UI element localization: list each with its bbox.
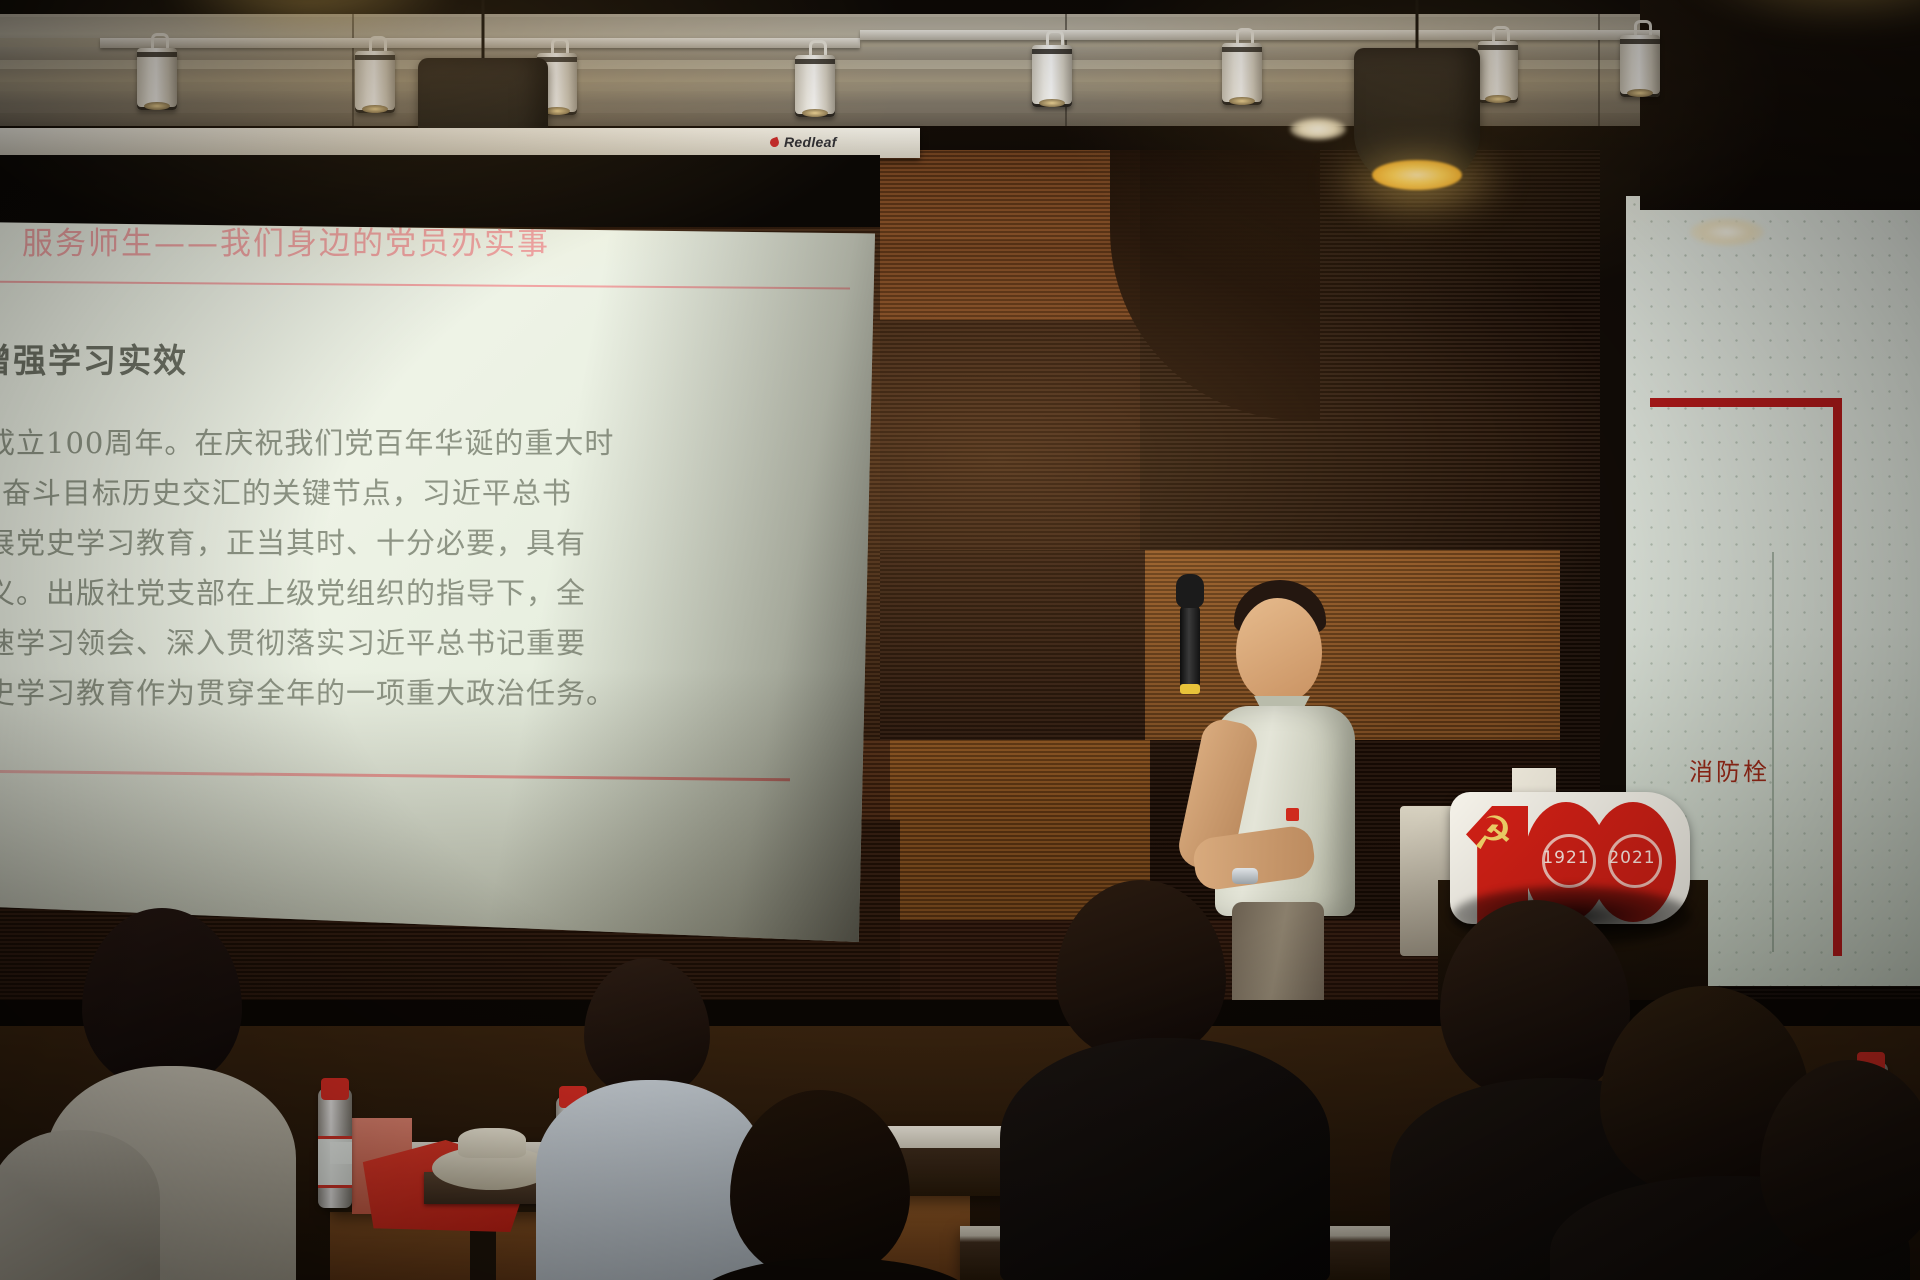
slide-footer-rule: [0, 770, 790, 782]
emblem-year-right: 2021: [1608, 848, 1656, 868]
recessed-downlight: [1690, 218, 1764, 246]
projection-screen: 谋，服务师生——我们身边的党员办实事 增强学习实效 党成立100周年。在庆祝我们…: [0, 222, 875, 942]
projector-brand-label: Redleaf: [784, 134, 837, 150]
slide-body-line: 年”奋斗目标历史交汇的关键节点，习近平总书: [0, 468, 572, 518]
slide-body-line: 党成立100周年。在庆祝我们党百年华诞的重大时: [0, 418, 614, 468]
red-leaf-icon: [769, 136, 781, 148]
presentation-room-photo: 消防栓: [0, 0, 1920, 1280]
audience-body: [1000, 1038, 1330, 1280]
hammer-and-sickle-icon: ☭: [1472, 810, 1513, 856]
party-member-pin: [1286, 808, 1299, 821]
recessed-downlight: [1290, 118, 1346, 140]
water-bottle-cap: [321, 1078, 349, 1100]
audience-body: [0, 1130, 160, 1280]
track-spotlight: [355, 36, 395, 114]
ceiling-right-dark: [1640, 0, 1920, 210]
microphone-body: [1180, 604, 1200, 690]
cabinet-border-top: [1650, 398, 1842, 407]
slide-body-line: 意义。出版社党支部在上级党组织的指导下，全: [0, 568, 586, 618]
slide-subheading: 增强学习实效: [0, 334, 188, 382]
track-spotlight: [1478, 26, 1518, 104]
speaker-watch: [1232, 868, 1258, 884]
water-bottle-label: [318, 1136, 352, 1188]
emblem-year-left: 1921: [1542, 848, 1590, 868]
pendant-lamp: [200, 0, 410, 20]
microphone-tip: [1180, 684, 1200, 694]
slide-body-line: 迅速学习领会、深入贯彻落实习近平总书记重要: [0, 618, 586, 668]
track-spotlight: [1032, 30, 1072, 108]
water-bottle: [318, 1088, 352, 1208]
pendant-lamp: [1710, 0, 1920, 10]
slide-body-line: 党史学习教育作为贯穿全年的一项重大政治任务。: [0, 668, 616, 718]
track-spotlight: [1222, 28, 1262, 106]
pendant-lamp: [1354, 0, 1480, 260]
screen-top-mask: [0, 155, 880, 227]
cabinet-inner-frame: [1772, 552, 1920, 952]
slide-header-rule: [0, 281, 850, 290]
microphone-head: [1176, 574, 1204, 608]
speaker-head: [1236, 598, 1322, 702]
track-spotlight: [137, 33, 177, 111]
track-spotlight: [1620, 20, 1660, 98]
fire-hydrant-label: 消防栓: [1689, 752, 1770, 787]
projector-brand: Redleaf: [770, 134, 837, 150]
sun-hat-crown: [458, 1128, 526, 1158]
slide-body-line: 开展党史学习教育，正当其时、十分必要，具有: [0, 518, 586, 568]
track-spotlight: [795, 40, 835, 118]
